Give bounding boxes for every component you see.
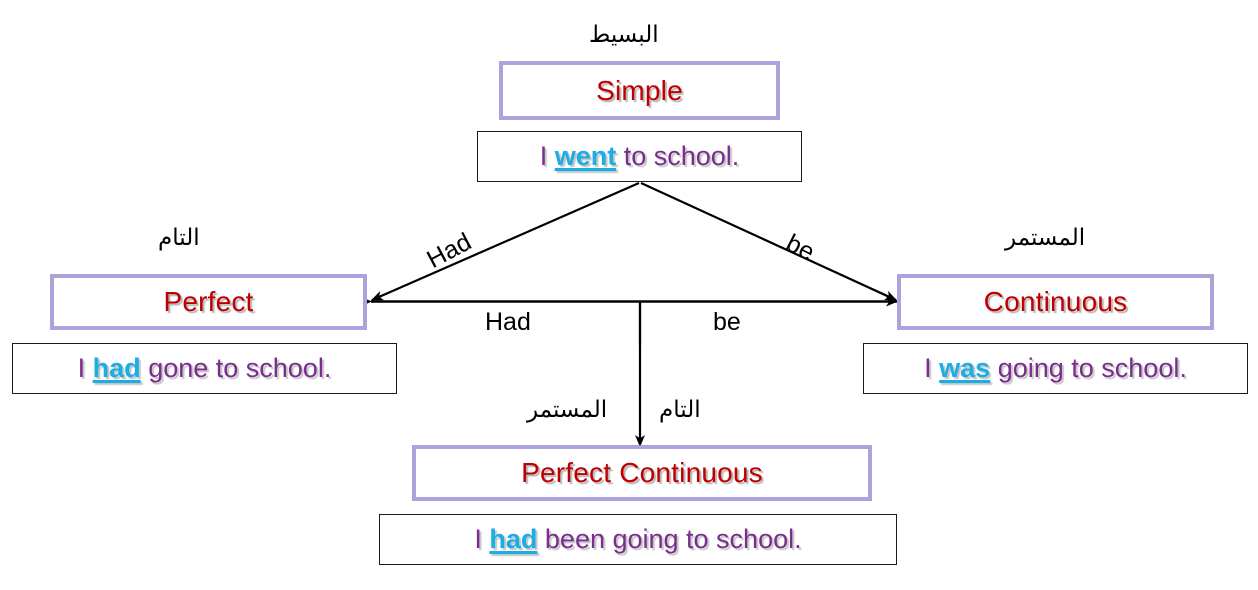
sentence-perfect-continuous: I had been going to school. — [474, 524, 801, 555]
sentence-perfect: I had gone to school. — [78, 353, 332, 384]
sentence-perfect-verb: had — [93, 353, 141, 383]
sentence-continuous: I was going to school. — [924, 353, 1187, 384]
sentence-perfect-continuous-pre: I — [474, 524, 489, 554]
sentence-simple-post: to school. — [616, 141, 739, 171]
arabic-label-simple: البسيط — [589, 24, 659, 47]
sentence-perfect-continuous-verb: had — [489, 524, 537, 554]
tense-title-simple: Simple — [596, 75, 683, 107]
sentence-simple: I went to school. — [540, 141, 740, 172]
tense-title-perfect: Perfect — [163, 286, 253, 318]
sentence-continuous-pre: I — [924, 353, 939, 383]
edge-simple-to-perfect — [372, 183, 639, 300]
edge-label-simple-to-continuous: be — [782, 231, 818, 266]
sentence-box-continuous[interactable]: I was going to school. — [863, 343, 1248, 394]
edge-label-simple-to-perfect: Had — [423, 229, 475, 273]
arabic-label-perfect-continuous-right: التام — [659, 399, 701, 422]
tense-title-continuous: Continuous — [984, 286, 1128, 318]
sentence-continuous-post: going to school. — [990, 353, 1187, 383]
arabic-label-continuous: المستمر — [1005, 227, 1085, 250]
tense-box-simple[interactable]: Simple — [499, 61, 780, 120]
arabic-label-perfect-continuous-left: المستمر — [527, 399, 607, 422]
tense-title-perfect-continuous: Perfect Continuous — [521, 457, 763, 489]
edge-simple-to-continuous — [641, 183, 896, 300]
sentence-perfect-post: gone to school. — [141, 353, 332, 383]
tense-box-continuous[interactable]: Continuous — [897, 274, 1214, 330]
tense-box-perfect-continuous[interactable]: Perfect Continuous — [412, 445, 872, 501]
sentence-continuous-verb: was — [939, 353, 990, 383]
sentence-simple-verb: went — [555, 141, 617, 171]
sentence-box-perfect-continuous[interactable]: I had been going to school. — [379, 514, 897, 565]
arabic-label-perfect: التام — [158, 227, 200, 250]
sentence-simple-pre: I — [540, 141, 555, 171]
edge-label-horizontal-left: Had — [485, 310, 531, 335]
sentence-perfect-pre: I — [78, 353, 93, 383]
sentence-box-perfect[interactable]: I had gone to school. — [12, 343, 397, 394]
edge-label-horizontal-right: be — [713, 310, 741, 335]
tense-box-perfect[interactable]: Perfect — [50, 274, 367, 330]
sentence-perfect-continuous-post: been going to school. — [537, 524, 801, 554]
sentence-box-simple[interactable]: I went to school. — [477, 131, 802, 182]
tense-derivation-diagram: البسيط Simple I went to school. التام Pe… — [0, 0, 1258, 590]
